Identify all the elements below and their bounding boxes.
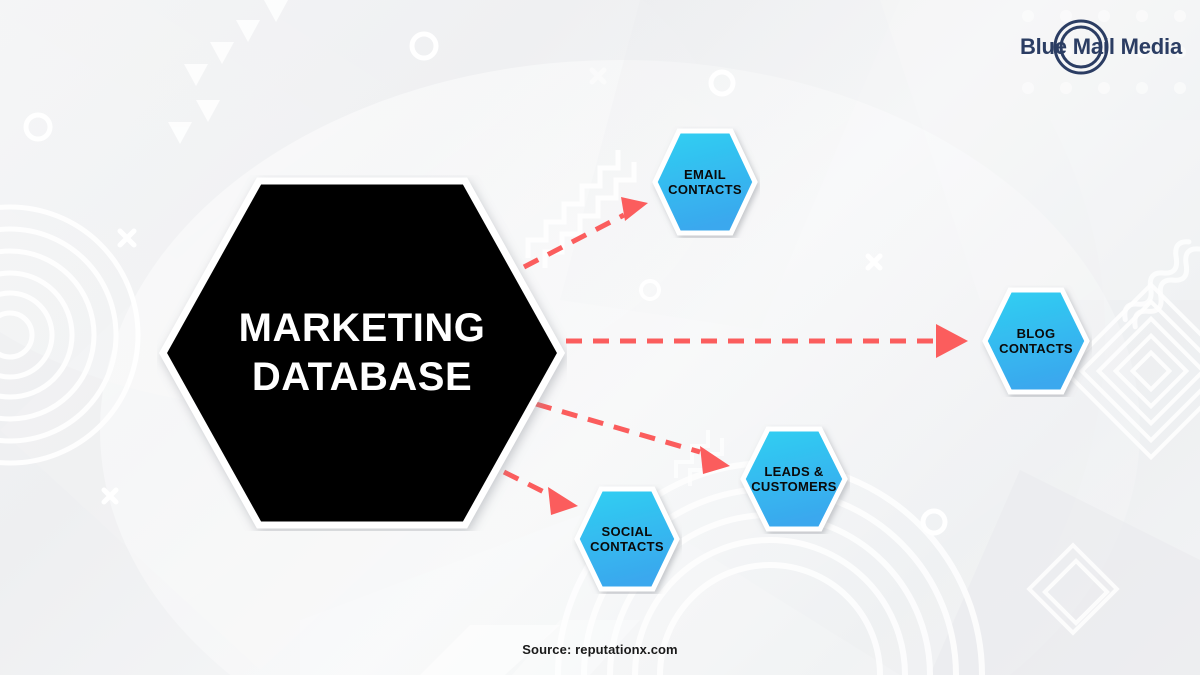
node-email-contacts[interactable]: EMAIL CONTACTS (650, 126, 760, 238)
source-caption: Source: reputationx.com (0, 642, 1200, 657)
connector-to-blog-contacts (566, 324, 968, 358)
hexagon-shape-social (572, 484, 682, 594)
infographic-canvas: MARKETING DATABASE EMAIL CONTACTS (0, 0, 1200, 675)
node-marketing-database[interactable]: MARKETING DATABASE (157, 175, 567, 531)
hexagon-shape-main (157, 175, 567, 531)
brand-logo-text: Blue Mail Media (1014, 34, 1182, 60)
hexagon-shape-leads (738, 424, 850, 534)
node-leads-customers[interactable]: LEADS & CUSTOMERS (738, 424, 850, 534)
hexagon-shape-blog (980, 285, 1092, 397)
node-social-contacts[interactable]: SOCIAL CONTACTS (572, 484, 682, 594)
brand-logo[interactable]: Blue Mail Media (1014, 16, 1182, 78)
hexagon-shape-email (650, 126, 760, 238)
node-blog-contacts[interactable]: BLOG CONTACTS (980, 285, 1092, 397)
